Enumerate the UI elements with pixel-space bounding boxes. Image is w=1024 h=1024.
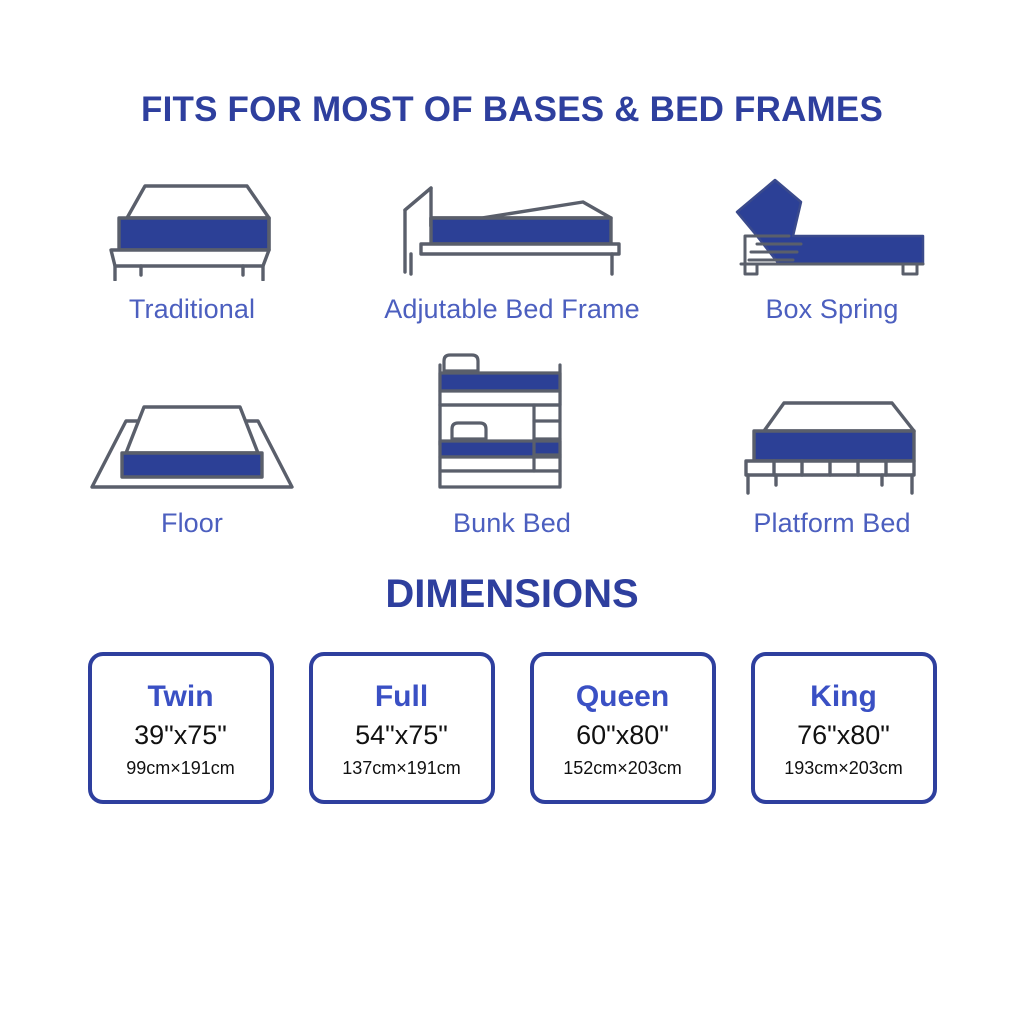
size-inches: 54"x75" xyxy=(355,721,448,749)
page-title: FITS FOR MOST OF BASES & BED FRAMES xyxy=(0,0,1024,127)
size-inches: 39"x75" xyxy=(134,721,227,749)
bed-bases-row-1: Traditional xyxy=(32,169,992,325)
infographic-page: FITS FOR MOST OF BASES & BED FRAMES xyxy=(0,0,1024,1024)
size-centimeters: 99cm×191cm xyxy=(126,759,235,778)
bed-bases-grid: Traditional xyxy=(32,127,992,538)
adjustable-bed-frame-art xyxy=(387,169,637,281)
base-label-floor: Floor xyxy=(161,509,223,539)
size-inches: 60"x80" xyxy=(576,721,669,749)
floor-mattress-icon xyxy=(82,387,302,497)
size-name: Full xyxy=(375,681,428,713)
base-card-adjustable: Adjutable Bed Frame xyxy=(352,169,672,325)
size-name: King xyxy=(810,681,877,713)
size-name: Queen xyxy=(576,681,669,713)
base-card-box-spring: Box Spring xyxy=(672,169,992,325)
dimensions-title: DIMENSIONS xyxy=(0,538,1024,614)
bunk-bed-icon xyxy=(430,347,595,497)
traditional-bed-art xyxy=(97,169,287,281)
base-label-box-spring: Box Spring xyxy=(765,295,898,325)
floor-mattress-art xyxy=(82,347,302,497)
size-centimeters: 137cm×191cm xyxy=(342,759,461,778)
bunk-bed-art xyxy=(430,347,595,497)
size-centimeters: 193cm×203cm xyxy=(784,759,903,778)
base-label-traditional: Traditional xyxy=(129,295,255,325)
traditional-bed-icon xyxy=(97,176,287,281)
base-label-adjustable: Adjutable Bed Frame xyxy=(384,295,640,325)
size-centimeters: 152cm×203cm xyxy=(563,759,682,778)
base-card-platform-bed: Platform Bed xyxy=(672,347,992,539)
base-card-bunk-bed: Bunk Bed xyxy=(352,347,672,539)
platform-bed-art xyxy=(732,347,932,497)
box-spring-icon xyxy=(727,176,937,281)
adjustable-bed-frame-icon xyxy=(387,176,637,281)
base-label-platform-bed: Platform Bed xyxy=(753,509,910,539)
size-inches: 76"x80" xyxy=(797,721,890,749)
bed-bases-row-2: Floor xyxy=(32,347,992,539)
platform-bed-icon xyxy=(732,387,932,497)
base-label-bunk-bed: Bunk Bed xyxy=(453,509,571,539)
base-card-floor: Floor xyxy=(32,347,352,539)
dimension-card-king: King 76"x80" 193cm×203cm xyxy=(751,652,937,804)
base-card-traditional: Traditional xyxy=(32,169,352,325)
dimension-card-twin: Twin 39"x75" 99cm×191cm xyxy=(88,652,274,804)
dimension-card-full: Full 54"x75" 137cm×191cm xyxy=(309,652,495,804)
size-name: Twin xyxy=(147,681,213,713)
dimension-card-queen: Queen 60"x80" 152cm×203cm xyxy=(530,652,716,804)
dimension-cards: Twin 39"x75" 99cm×191cm Full 54"x75" 137… xyxy=(0,652,1024,804)
box-spring-art xyxy=(727,169,937,281)
